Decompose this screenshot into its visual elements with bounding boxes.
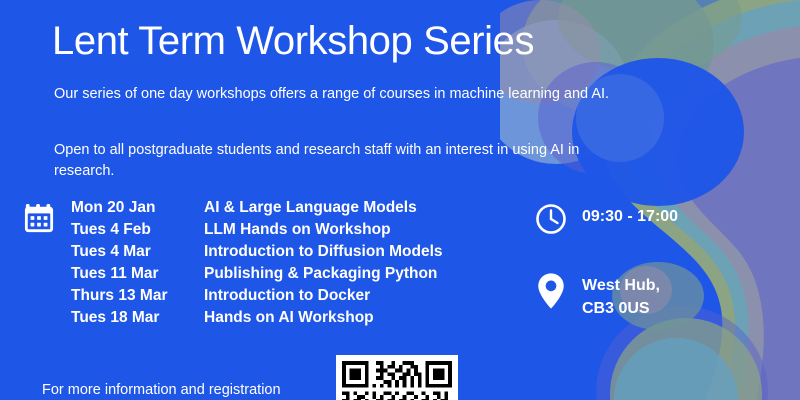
clock-icon [534,200,568,238]
schedule-date: Tues 4 Feb [71,221,204,239]
schedule-row: Thurs 13 Mar Introduction to Docker [71,287,443,309]
schedule-date: Tues 4 Mar [71,243,204,261]
schedule-row: Tues 11 Mar Publishing & Packaging Pytho… [71,265,443,287]
intro-paragraph-1: Our series of one day workshops offers a… [54,84,614,105]
location-line-1: West Hub, [582,275,660,298]
map-pin-icon [534,272,568,310]
schedule-date: Tues 11 Mar [71,265,204,283]
time-block: 09:30 - 17:00 [534,200,678,238]
intro-paragraph-2: Open to all postgraduate students and re… [54,140,614,181]
schedule-workshop: AI & Large Language Models [204,199,443,217]
schedule-date: Tues 18 Mar [71,309,204,327]
schedule-block: Mon 20 Jan AI & Large Language Models Tu… [24,199,443,331]
schedule-row: Tues 4 Mar Introduction to Diffusion Mod… [71,243,443,265]
schedule-workshop: LLM Hands on Workshop [204,221,443,239]
schedule-row: Tues 18 Mar Hands on AI Workshop [71,309,443,331]
schedule-rows: Mon 20 Jan AI & Large Language Models Tu… [71,199,443,331]
location-value: West Hub, CB3 0US [582,272,660,320]
schedule-row: Tues 4 Feb LLM Hands on Workshop [71,221,443,243]
schedule-date: Thurs 13 Mar [71,287,204,305]
location-line-2: CB3 0US [582,298,660,321]
schedule-workshop: Publishing & Packaging Python [204,265,443,283]
schedule-row: Mon 20 Jan AI & Large Language Models [71,199,443,221]
page-title: Lent Term Workshop Series [52,18,534,64]
schedule-workshop: Introduction to Diffusion Models [204,243,443,261]
location-block: West Hub, CB3 0US [534,272,660,320]
schedule-workshop: Introduction to Docker [204,287,443,305]
poster-canvas: Lent Term Workshop Series Our series of … [0,0,800,400]
schedule-workshop: Hands on AI Workshop [204,309,443,327]
schedule-date: Mon 20 Jan [71,199,204,217]
calendar-icon [24,203,54,233]
qr-code[interactable] [336,355,458,400]
footer-note: For more information and registration [42,382,281,398]
time-value: 09:30 - 17:00 [582,200,678,229]
